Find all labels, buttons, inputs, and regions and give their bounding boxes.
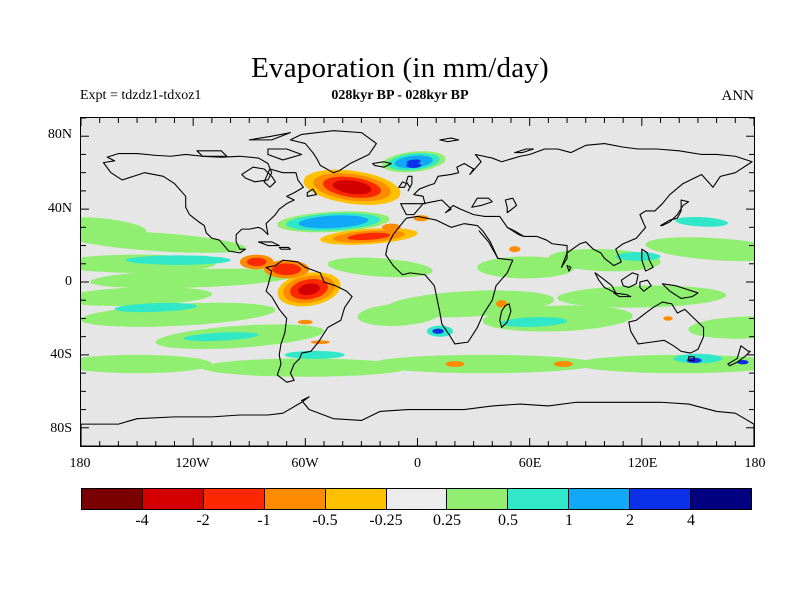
orange-speck-8 — [311, 340, 330, 344]
colorbar-label-5: 0.25 — [433, 512, 461, 530]
x-tick-label-4: 60E — [519, 456, 542, 472]
colorbar-band-5 — [387, 489, 448, 509]
colorbar-label-9: 4 — [687, 512, 695, 530]
orange-speck-6 — [382, 224, 401, 231]
colorbar-label-1: -2 — [196, 512, 209, 530]
colorbar-label-0: -4 — [135, 512, 148, 530]
x-tick-label-3: 0 — [414, 456, 421, 472]
y-tick-label-2: 0 — [12, 274, 72, 290]
orange-speck-5 — [663, 316, 672, 320]
orange-speck-3 — [554, 361, 573, 367]
orange-speck-1 — [496, 300, 507, 307]
evaporation-anomaly-map-figure: Evaporation (in mm/day) 028kyr BP - 028k… — [0, 0, 800, 600]
y-tick-label-1: 40N — [12, 201, 72, 217]
green-band-17 — [477, 256, 574, 278]
colorbar-tick-labels: -4-2-1-0.5-0.250.250.5124 — [0, 512, 800, 536]
turquoise-core-0 — [126, 255, 231, 265]
y-tick-label-4: 80S — [12, 421, 72, 437]
map-plot-area — [80, 117, 755, 447]
turquoise-core-5 — [616, 252, 661, 261]
colorbar-band-8 — [569, 489, 630, 509]
y-tick-label-3: 40S — [12, 347, 72, 363]
page-title: Evaporation (in mm/day) — [0, 52, 800, 85]
green-band-12 — [203, 359, 409, 377]
orange-speck-2 — [446, 361, 465, 367]
x-tick-label-5: 120E — [628, 456, 658, 472]
x-tick-label-6: 180 — [745, 456, 766, 472]
orange-speck-4 — [509, 246, 520, 252]
colorbar-label-3: -0.5 — [312, 512, 337, 530]
y-tick-label-0: 80N — [12, 127, 72, 143]
experiment-label: Expt = tdzdz1-tdxoz1 — [80, 88, 201, 104]
x-tick-label-0: 180 — [70, 456, 91, 472]
colorbar-label-7: 1 — [565, 512, 573, 530]
colorbar-band-10 — [691, 489, 751, 509]
colorbar-band-7 — [508, 489, 569, 509]
colorbar — [81, 488, 752, 510]
colorbar-label-2: -1 — [257, 512, 270, 530]
colorbar-band-3 — [265, 489, 326, 509]
blue-speck-0 — [406, 163, 421, 168]
central-america-positive-level-1 — [247, 258, 266, 267]
world-map-svg — [81, 118, 754, 446]
colorbar-label-8: 2 — [626, 512, 634, 530]
x-tick-label-2: 60W — [291, 456, 318, 472]
x-tick-label-1: 120W — [175, 456, 209, 472]
orange-speck-0 — [298, 320, 313, 324]
colorbar-band-1 — [143, 489, 204, 509]
blue-speck-3 — [432, 329, 443, 334]
colorbar-band-0 — [82, 489, 143, 509]
colorbar-label-4: -0.25 — [369, 512, 402, 530]
colorbar-label-6: 0.5 — [498, 512, 518, 530]
colorbar-band-6 — [447, 489, 508, 509]
colorbar-band-2 — [204, 489, 265, 509]
season-label: ANN — [722, 88, 755, 105]
colorbar-band-4 — [326, 489, 387, 509]
colorbar-band-9 — [630, 489, 691, 509]
turquoise-core-6 — [285, 351, 345, 359]
